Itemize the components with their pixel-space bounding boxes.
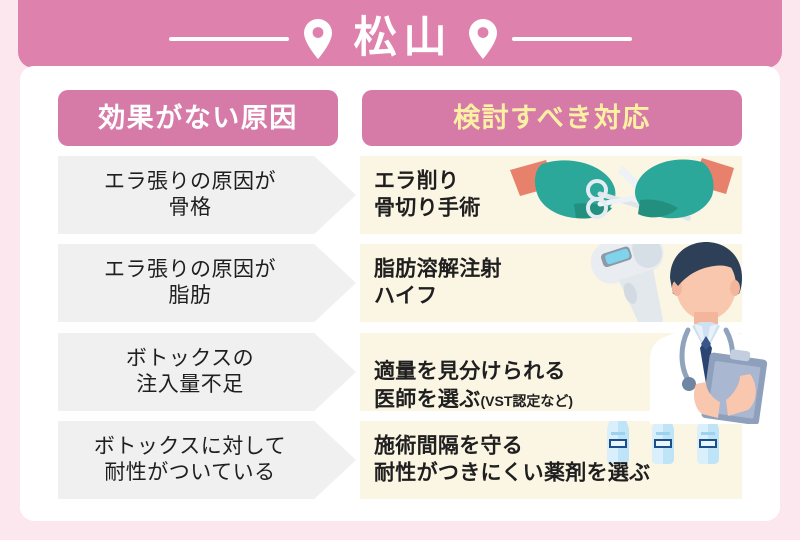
action-cell: 脂肪溶解注射 ハイフ [360,244,742,322]
action-label: 適量を見分けられる 医師を選ぶ(VST認定など) [374,333,573,411]
cause-cell: ボトックスの 注入量不足 [58,333,356,411]
action-column-header-label: 検討すべき対応 [453,105,651,132]
cause-label: ボトックスの 注入量不足 [126,346,254,399]
page-title: 松山 [347,17,454,60]
table-row: エラ張りの原因が 脂肪 脂肪溶解注射 ハイフ [20,244,780,322]
cause-label: ボトックスに対して 耐性がついている [94,434,286,487]
table-row: エラ張りの原因が 骨格 エラ削り 骨切り手術 [20,156,780,234]
comparison-rows: エラ張りの原因が 骨格 エラ削り 骨切り手術 [20,156,780,511]
cause-label: エラ張りの原因が 骨格 [104,169,276,222]
cause-column-header: 効果がない原因 [58,90,338,146]
action-label: 施術間隔を守る 耐性がつきにくい薬剤を選ぶ [374,433,650,488]
action-cell: 適量を見分けられる 医師を選ぶ(VST認定など) [360,333,742,411]
cause-label: エラ張りの原因が 脂肪 [104,257,276,310]
cause-cell: ボトックスに対して 耐性がついている [58,421,356,499]
cause-column-header-label: 効果がない原因 [98,105,298,132]
action-cell: エラ削り 骨切り手術 [360,156,742,234]
action-column-header: 検討すべき対応 [362,90,742,146]
cause-cell: エラ張りの原因が 骨格 [58,156,356,234]
map-pin-icon-right [468,18,498,60]
header-rule-left [169,37,289,41]
table-row: ボトックスの 注入量不足 適量を見分けられる 医師を選ぶ(VST認定など) [20,333,780,411]
infographic-root: 松山 効果がない原因 検討すべき対応 エラ張りの原因が 骨格 [0,0,800,540]
column-headers: 効果がない原因 検討すべき対応 [20,90,780,148]
header-banner: 松山 [18,0,782,68]
header-inner: 松山 [18,17,782,60]
action-cell: 施術間隔を守る 耐性がつきにくい薬剤を選ぶ [360,421,742,499]
hifu-device-icon [564,244,714,322]
surgery-hands-scalpel-icon [502,156,742,234]
table-row: ボトックスに対して 耐性がついている 施術間隔を守る 耐性がつきにくい薬剤を選ぶ [20,421,780,499]
action-label-note: (VST認定など) [481,393,574,409]
content-card: 効果がない原因 検討すべき対応 エラ張りの原因が 骨格 エラ削り 骨切り手術 [20,66,780,521]
action-label: エラ削り 骨切り手術 [374,168,481,223]
action-label: 脂肪溶解注射 ハイフ [374,256,502,311]
cause-cell: エラ張りの原因が 脂肪 [58,244,356,322]
map-pin-icon-left [303,18,333,60]
header-rule-right [512,37,632,41]
